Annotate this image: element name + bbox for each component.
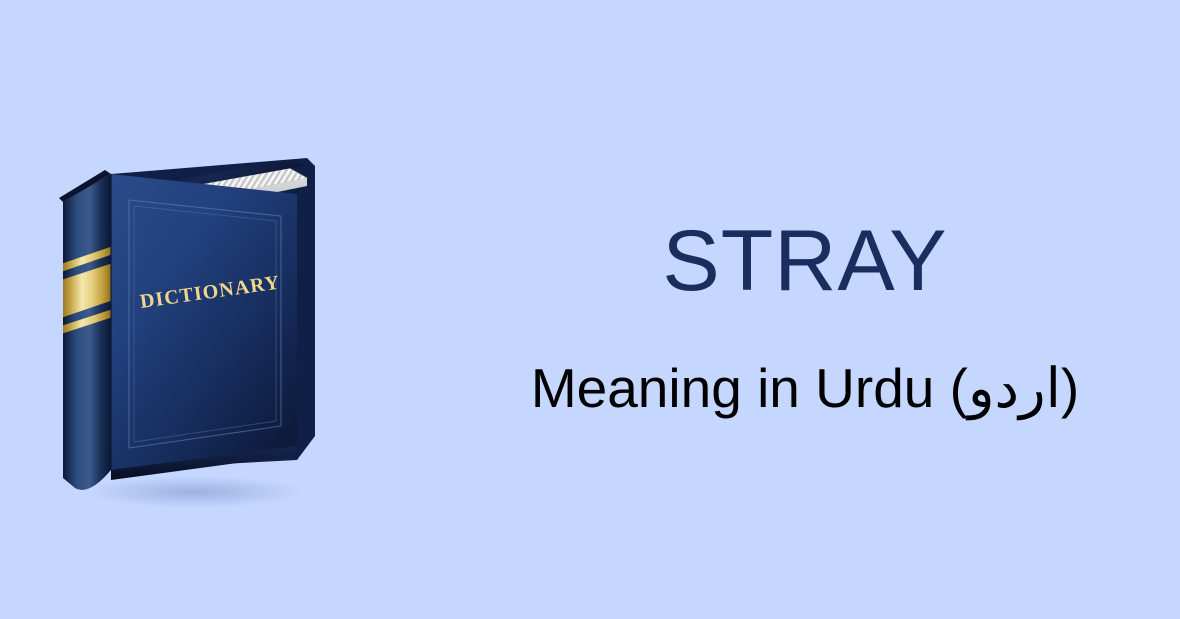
page-title-headword: STRAY: [430, 218, 1180, 304]
word-text-block: STRAY Meaning in Urdu (اردو): [430, 200, 1180, 450]
dictionary-book-illustration: DICTIONARY: [45, 130, 345, 510]
page-root: DICTIONARY STRAY Meaning in Urdu (اردو): [0, 0, 1180, 619]
meaning-subtitle-english: Meaning in Urdu: [531, 357, 950, 419]
book-spine: [63, 174, 111, 490]
book-front-cover: [111, 174, 297, 470]
book-ground-shadow: [87, 476, 303, 508]
meaning-subtitle-urdu: (اردو): [950, 357, 1080, 419]
meaning-subtitle: Meaning in Urdu (اردو): [430, 360, 1180, 418]
